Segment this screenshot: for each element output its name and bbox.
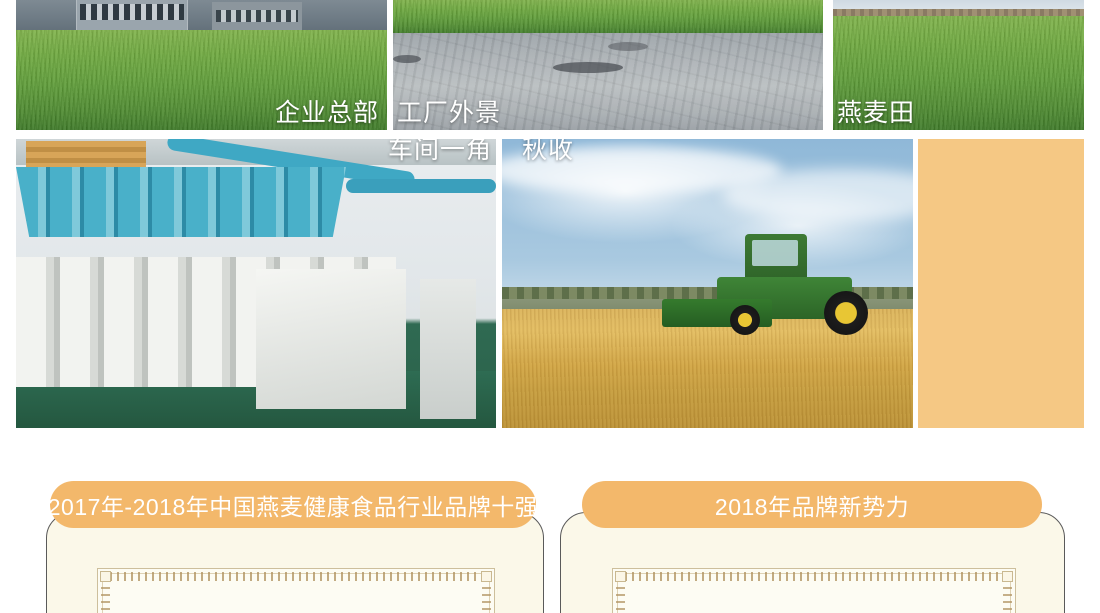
harvester-wheel-rear: [730, 305, 760, 335]
frame-top-ornament-2: [623, 572, 1005, 581]
frame-corner-topleft-2: [615, 571, 626, 582]
photo-caption-workshop: 车间一角: [388, 139, 492, 163]
building-window-strip-right: [216, 10, 298, 22]
building-window-strip: [80, 4, 184, 20]
frame-right-ornament-1: [482, 585, 491, 613]
photo-tile-factory-exterior[interactable]: 工厂外景: [393, 0, 823, 130]
photo-tile-autumn-harvest[interactable]: 秋收: [502, 139, 913, 428]
blue-hopper-row: [16, 167, 346, 237]
page-root: 企业总部 工厂外景 燕麦田 车间一角: [0, 0, 1100, 613]
puddle-mark-c: [393, 55, 421, 63]
puddle-mark-b: [553, 62, 623, 73]
photo-caption-autumn-harvest: 秋收: [522, 139, 574, 163]
frame-corner-topright-2: [1002, 571, 1013, 582]
award-badge-1[interactable]: 2017年-2018年中国燕麦健康食品行业品牌十强: [50, 481, 536, 528]
photo-caption-headquarters: 企业总部: [275, 101, 379, 126]
harvester-cab-window: [752, 240, 798, 266]
certificate-ornamental-frame-2: [612, 568, 1016, 613]
certificate-ornamental-frame-1: [97, 568, 495, 613]
frame-corner-topleft-1: [100, 571, 111, 582]
blue-pipe-horizontal: [346, 179, 496, 193]
frame-left-ornament-1: [101, 585, 110, 613]
puddle-mark-a: [608, 42, 648, 51]
photo-tile-workshop[interactable]: 车间一角: [16, 139, 496, 428]
machine-unit-large: [256, 269, 406, 409]
harvester-wheel-front: [824, 291, 868, 335]
frame-right-ornament-2: [1003, 585, 1012, 613]
photo-caption-factory-exterior: 工厂外景: [397, 101, 501, 126]
photo-tile-headquarters[interactable]: 企业总部: [16, 0, 387, 130]
control-cabinet: [420, 279, 476, 419]
frame-corner-topright-1: [481, 571, 492, 582]
award-badge-2[interactable]: 2018年品牌新势力: [582, 481, 1042, 528]
photo-tile-oat-field[interactable]: 燕麦田: [833, 0, 1084, 130]
frame-top-ornament-1: [108, 572, 484, 581]
orange-side-panel[interactable]: [918, 139, 1084, 428]
distant-green-field: [393, 0, 823, 34]
frame-left-ornament-2: [616, 585, 625, 613]
photo-caption-oat-field: 燕麦田: [837, 101, 915, 126]
